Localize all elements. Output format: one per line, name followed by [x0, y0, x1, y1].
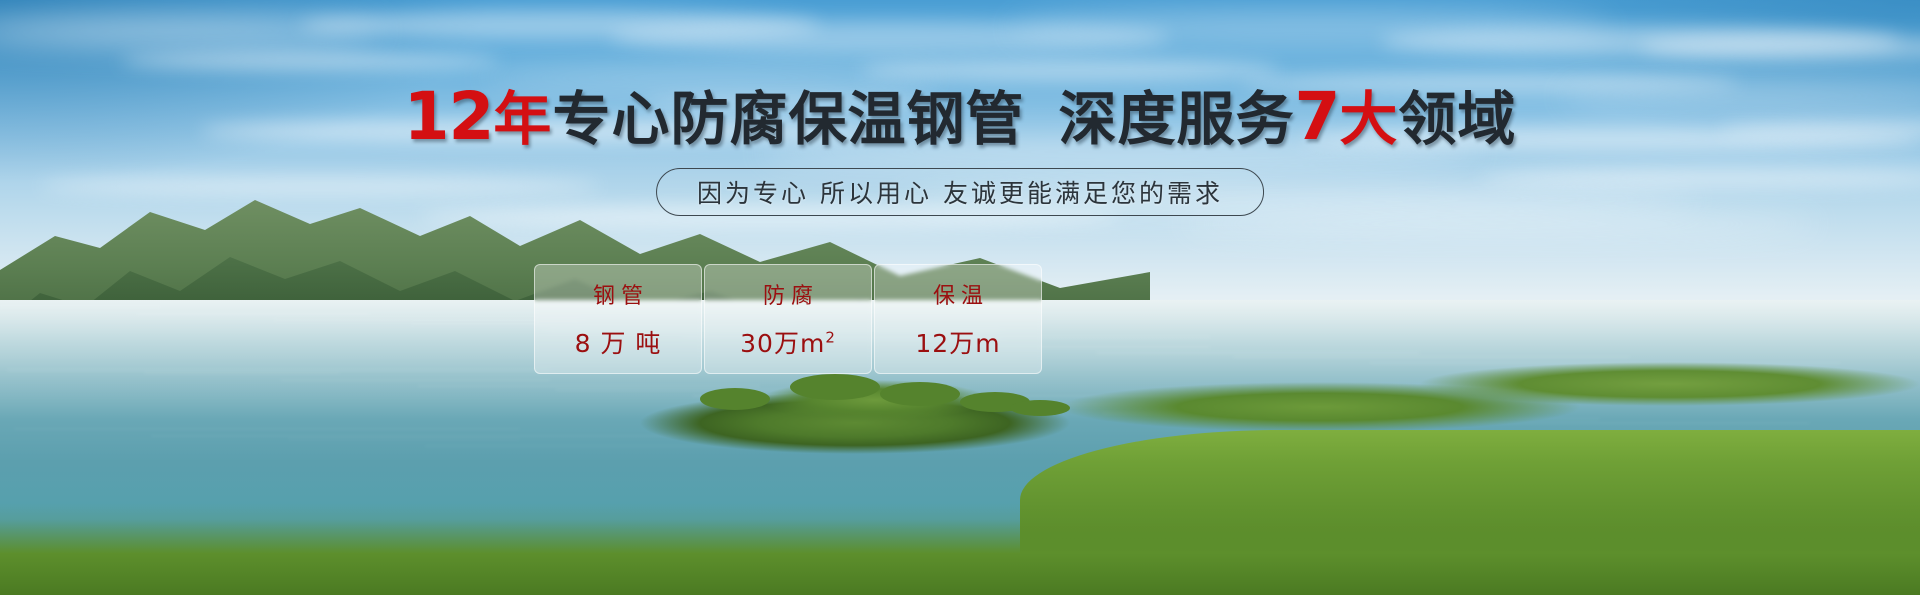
stat-card-value: 12万m	[915, 324, 1000, 360]
headline-fields-number: 7	[1294, 78, 1339, 155]
stat-card-label: 钢管	[587, 278, 649, 310]
headline-segment-three: 领域	[1398, 85, 1516, 153]
stat-card: 钢管8 万 吨	[534, 264, 702, 374]
stat-card-value: 8 万 吨	[575, 324, 662, 360]
banner-content: 12年专心防腐保温钢管深度服务7大领域 因为专心 所以用心 友诚更能满足您的需求…	[0, 0, 1920, 595]
headline-segment-one: 专心防腐保温钢管	[552, 85, 1024, 153]
stat-card-label: 防腐	[757, 278, 819, 310]
stat-card-label: 保温	[927, 278, 989, 310]
subtitle-text: 因为专心 所以用心 友诚更能满足您的需求	[697, 174, 1223, 210]
stat-card-value-exponent: 2	[825, 329, 836, 347]
headline-fields-unit: 大	[1339, 85, 1398, 153]
headline-years-unit: 年	[493, 85, 552, 153]
subtitle-pill: 因为专心 所以用心 友诚更能满足您的需求	[656, 168, 1264, 216]
headline: 12年专心防腐保温钢管深度服务7大领域	[0, 84, 1920, 152]
hero-banner: 12年专心防腐保温钢管深度服务7大领域 因为专心 所以用心 友诚更能满足您的需求…	[0, 0, 1920, 595]
stat-card: 保温12万m	[874, 264, 1042, 374]
stat-card-group: 钢管8 万 吨防腐30万m2保温12万m	[534, 264, 1042, 374]
headline-segment-two: 深度服务	[1058, 85, 1294, 153]
stat-card-value: 30万m2	[740, 324, 836, 360]
headline-years-number: 12	[404, 78, 494, 155]
stat-card: 防腐30万m2	[704, 264, 872, 374]
